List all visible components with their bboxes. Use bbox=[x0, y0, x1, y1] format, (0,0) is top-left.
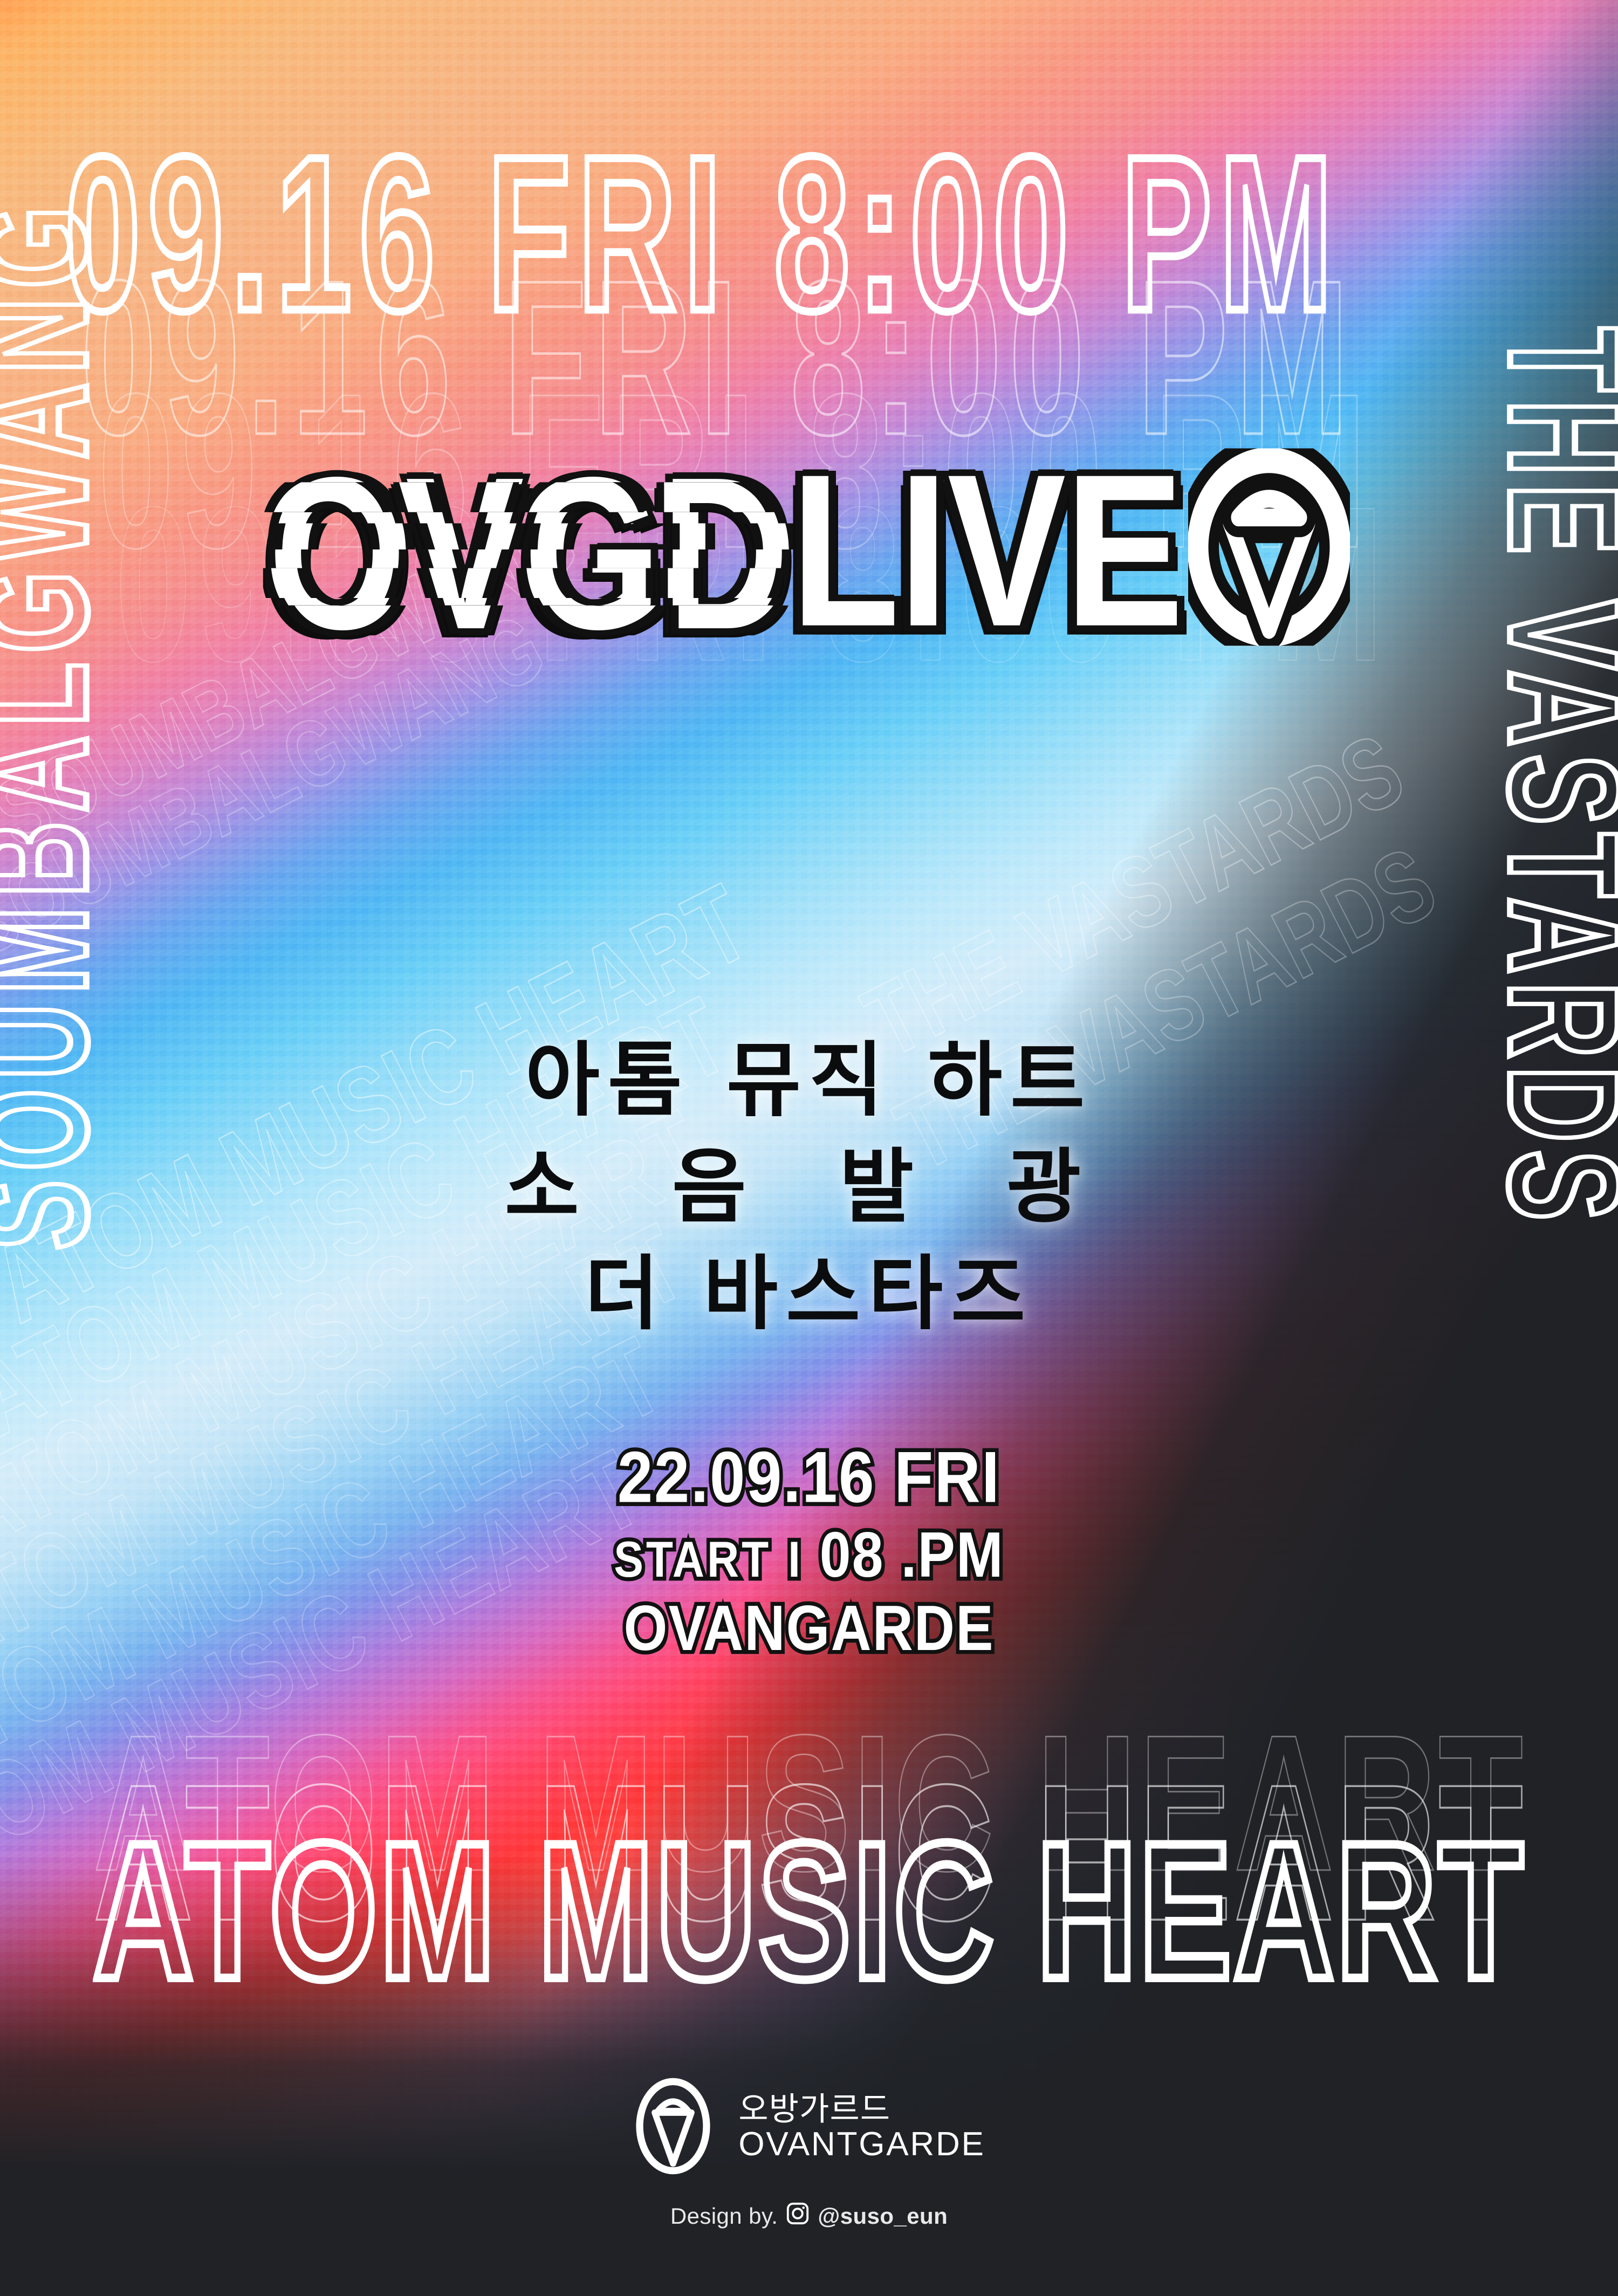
lineup-line-1: 아톰 뮤직 하트 bbox=[0, 1027, 1618, 1134]
title-line-live-text: LIVE bbox=[791, 429, 1183, 671]
main-title-block: OVGD OVGD OVGD OVGD OVGD LIVE bbox=[0, 475, 1618, 656]
design-credit-prefix: Design by. bbox=[670, 2203, 778, 2229]
design-credit: Design by. @suso_eun bbox=[0, 2201, 1618, 2231]
title-line-ovgd-text: OVGD bbox=[268, 431, 789, 674]
footer: 오방가르드 OVANTGARDE Design by. @suso_eun bbox=[0, 2078, 1618, 2231]
bottom-word: ATOM MUSIC HEART bbox=[0, 1833, 1618, 1988]
bottom-word-text: ATOM MUSIC HEART bbox=[93, 1799, 1525, 2022]
event-date: 22.09.16 FRI bbox=[0, 1431, 1618, 1524]
poster-canvas: ATOM MUSIC HEART ATOM MUSIC HEART ATOM M… bbox=[0, 0, 1618, 2296]
event-separator: I bbox=[788, 1532, 803, 1588]
footer-brand: 오방가르드 OVANTGARDE bbox=[633, 2078, 985, 2177]
lineup-block: 아톰 뮤직 하트 소 음 발 광 더 바스타즈 bbox=[0, 1027, 1618, 1348]
event-start-label: START bbox=[614, 1532, 771, 1588]
instagram-icon bbox=[785, 2201, 810, 2231]
event-details-block: 22.09.16 FRI START I 08 .PM OVANGARDE bbox=[0, 1437, 1618, 1665]
footer-brand-en: OVANTGARDE bbox=[738, 2127, 985, 2162]
design-credit-handle: @suso_eun bbox=[818, 2203, 948, 2229]
title-line-live: LIVE bbox=[791, 457, 1350, 676]
lineup-line-2: 소 음 발 광 bbox=[0, 1134, 1618, 1241]
lineup-line-3: 더 바스타즈 bbox=[0, 1241, 1618, 1348]
title-line-ovgd: OVGD OVGD OVGD OVGD OVGD bbox=[268, 460, 789, 647]
ovangarde-triangle-logo-icon bbox=[1188, 448, 1350, 664]
event-time: 08 .PM bbox=[820, 1520, 1004, 1591]
event-time-row: START I 08 .PM bbox=[0, 1513, 1618, 1597]
footer-brand-names: 오방가르드 OVANTGARDE bbox=[738, 2093, 985, 2162]
ovangarde-circle-logo-icon bbox=[633, 2078, 714, 2177]
event-venue: OVANGARDE bbox=[0, 1587, 1618, 1671]
footer-brand-kr: 오방가르드 bbox=[738, 2093, 985, 2127]
top-headline: 09.16 FRI 8:00 PM bbox=[65, 108, 1340, 360]
